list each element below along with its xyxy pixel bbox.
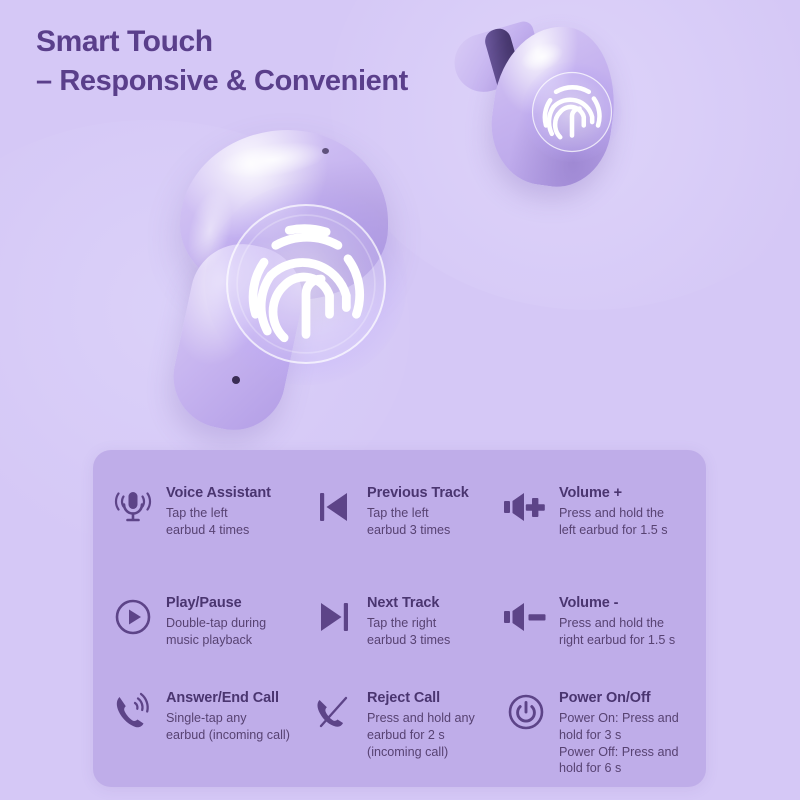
feature-title: Power On/Off xyxy=(559,690,679,707)
feature-text: Reject Call Press and hold any earbud fo… xyxy=(367,689,475,760)
feature-title: Answer/End Call xyxy=(166,690,290,707)
feature-description: Tap the left earbud 4 times xyxy=(166,505,271,538)
microphone-icon xyxy=(109,484,157,530)
feature-play-pause[interactable]: Play/Pause Double-tap during music playb… xyxy=(93,594,302,689)
feature-title: Volume - xyxy=(559,595,675,612)
feature-description: Press and hold the right earbud for 1.5 … xyxy=(559,615,675,648)
feature-text: Answer/End Call Single-tap any earbud (i… xyxy=(166,689,290,744)
infographic-page: Smart Touch – Responsive & Convenient xyxy=(0,0,800,800)
feature-text: Next Track Tap the right earbud 3 times xyxy=(367,594,450,649)
fingerprint-touch-pad-large xyxy=(222,200,390,368)
feature-power-on-off[interactable]: Power On/Off Power On: Press and hold fo… xyxy=(498,689,706,800)
feature-previous-track[interactable]: Previous Track Tap the left earbud 3 tim… xyxy=(302,484,498,594)
feature-title: Previous Track xyxy=(367,485,469,502)
feature-answer-end-call[interactable]: Answer/End Call Single-tap any earbud (i… xyxy=(93,689,302,800)
fingerprint-icon xyxy=(222,200,390,368)
previous-track-icon xyxy=(310,484,358,530)
feature-next-track[interactable]: Next Track Tap the right earbud 3 times xyxy=(302,594,498,689)
feature-text: Previous Track Tap the left earbud 3 tim… xyxy=(367,484,469,539)
feature-text: Play/Pause Double-tap during music playb… xyxy=(166,594,266,649)
feature-description: Press and hold any earbud for 2 s (incom… xyxy=(367,710,475,760)
feature-title: Play/Pause xyxy=(166,595,266,612)
fingerprint-icon xyxy=(530,70,614,154)
volume-down-icon xyxy=(502,594,550,640)
gesture-grid: Voice Assistant Tap the left earbud 4 ti… xyxy=(93,450,706,787)
feature-description: Single-tap any earbud (incoming call) xyxy=(166,710,290,743)
feature-title: Voice Assistant xyxy=(166,485,271,502)
feature-description: Double-tap during music playback xyxy=(166,615,266,648)
feature-voice-assistant[interactable]: Voice Assistant Tap the left earbud 4 ti… xyxy=(93,484,302,594)
feature-reject-call[interactable]: Reject Call Press and hold any earbud fo… xyxy=(302,689,498,800)
earbud-small xyxy=(452,8,642,218)
feature-text: Power On/Off Power On: Press and hold fo… xyxy=(559,689,679,777)
fingerprint-touch-pad-small xyxy=(530,70,614,154)
microphone-hole-bottom xyxy=(232,376,240,384)
feature-description: Tap the left earbud 3 times xyxy=(367,505,469,538)
feature-text: Volume + Press and hold the left earbud … xyxy=(559,484,668,539)
feature-volume-down[interactable]: Volume - Press and hold the right earbud… xyxy=(498,594,706,689)
feature-title: Reject Call xyxy=(367,690,475,707)
feature-title: Volume + xyxy=(559,485,668,502)
feature-title: Next Track xyxy=(367,595,450,612)
power-icon xyxy=(502,689,550,735)
feature-description: Power On: Press and hold for 3 s Power O… xyxy=(559,710,679,776)
feature-description: Press and hold the left earbud for 1.5 s xyxy=(559,505,668,538)
earbud-large xyxy=(168,126,428,436)
next-track-icon xyxy=(310,594,358,640)
gesture-guide-panel: Voice Assistant Tap the left earbud 4 ti… xyxy=(93,450,706,787)
phone-reject-icon xyxy=(310,689,358,735)
feature-description: Tap the right earbud 3 times xyxy=(367,615,450,648)
phone-answer-icon xyxy=(109,689,157,735)
feature-text: Volume - Press and hold the right earbud… xyxy=(559,594,675,649)
feature-volume-up[interactable]: Volume + Press and hold the left earbud … xyxy=(498,484,706,594)
play-pause-icon xyxy=(109,594,157,640)
feature-text: Voice Assistant Tap the left earbud 4 ti… xyxy=(166,484,271,539)
volume-up-icon xyxy=(502,484,550,530)
microphone-hole-top xyxy=(322,148,329,154)
